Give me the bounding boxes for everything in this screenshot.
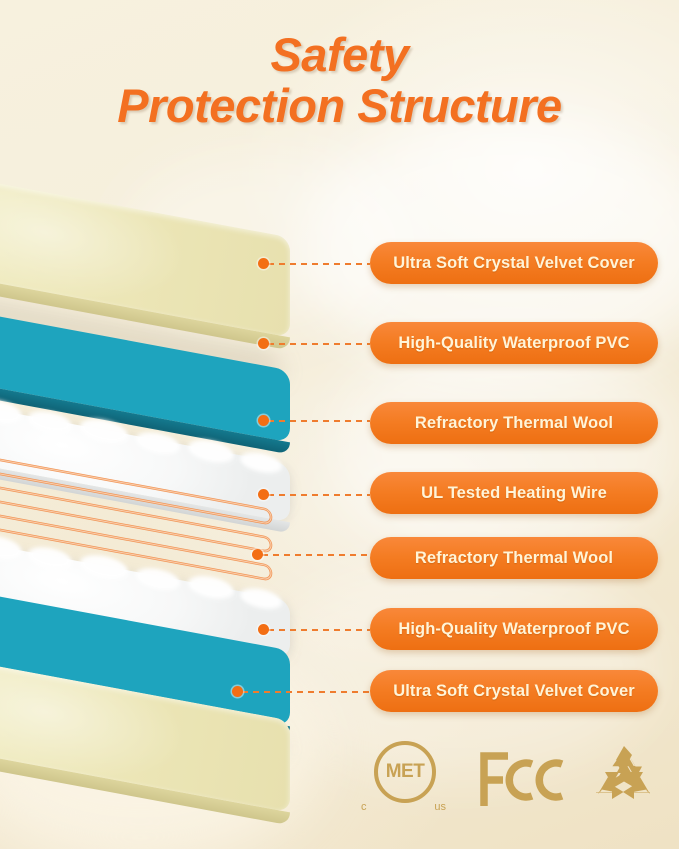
recycle-logo-svg: [588, 742, 660, 814]
layer-label-text: UL Tested Heating Wire: [421, 484, 607, 503]
layer-label-velvet-top[interactable]: Ultra Soft Crystal Velvet Cover: [370, 242, 658, 284]
layer-label-text: Ultra Soft Crystal Velvet Cover: [393, 254, 635, 273]
safety-protection-structure-infographic: Safety Protection Structure: [0, 0, 679, 849]
met-label: MET: [374, 741, 436, 803]
connector-dot: [258, 258, 269, 269]
fcc-logo-svg: [476, 746, 568, 810]
layer-label-text: High-Quality Waterproof PVC: [398, 334, 629, 353]
connector-dot: [252, 549, 263, 560]
connector-dot: [258, 489, 269, 500]
met-certification-icon: MET c us: [360, 739, 456, 817]
title-line-safety: Safety: [0, 30, 679, 81]
connector-line: [268, 629, 370, 631]
connector-line: [268, 343, 370, 345]
certification-badges: MET c us: [360, 736, 660, 820]
connector-dot: [232, 686, 243, 697]
page-title: Safety Protection Structure: [0, 30, 679, 132]
connector-line: [268, 420, 370, 422]
met-mark-us: us: [434, 801, 446, 813]
layer-label-text: Refractory Thermal Wool: [415, 414, 613, 433]
layer-label-heating-wire[interactable]: UL Tested Heating Wire: [370, 472, 658, 514]
connector-dot: [258, 624, 269, 635]
met-mark-c: c: [361, 801, 367, 813]
layer-label-text: Ultra Soft Crystal Velvet Cover: [393, 682, 635, 701]
title-line-protection-structure: Protection Structure: [0, 81, 679, 132]
layer-label-text: Refractory Thermal Wool: [415, 549, 613, 568]
connector-line: [262, 554, 370, 556]
connector-line: [268, 263, 370, 265]
connector-line: [268, 494, 370, 496]
connector-line: [242, 691, 370, 693]
layer-label-velvet-bottom[interactable]: Ultra Soft Crystal Velvet Cover: [370, 670, 658, 712]
layer-label-pvc-top[interactable]: High-Quality Waterproof PVC: [370, 322, 658, 364]
fcc-certification-icon: [476, 746, 568, 810]
connector-dot: [258, 338, 269, 349]
layer-label-pvc-bottom[interactable]: High-Quality Waterproof PVC: [370, 608, 658, 650]
connector-dot: [258, 415, 269, 426]
layer-label-wool-top[interactable]: Refractory Thermal Wool: [370, 402, 658, 444]
layer-label-wool-bottom[interactable]: Refractory Thermal Wool: [370, 537, 658, 579]
recycle-symbol-icon: [588, 742, 660, 814]
layer-label-text: High-Quality Waterproof PVC: [398, 620, 629, 639]
